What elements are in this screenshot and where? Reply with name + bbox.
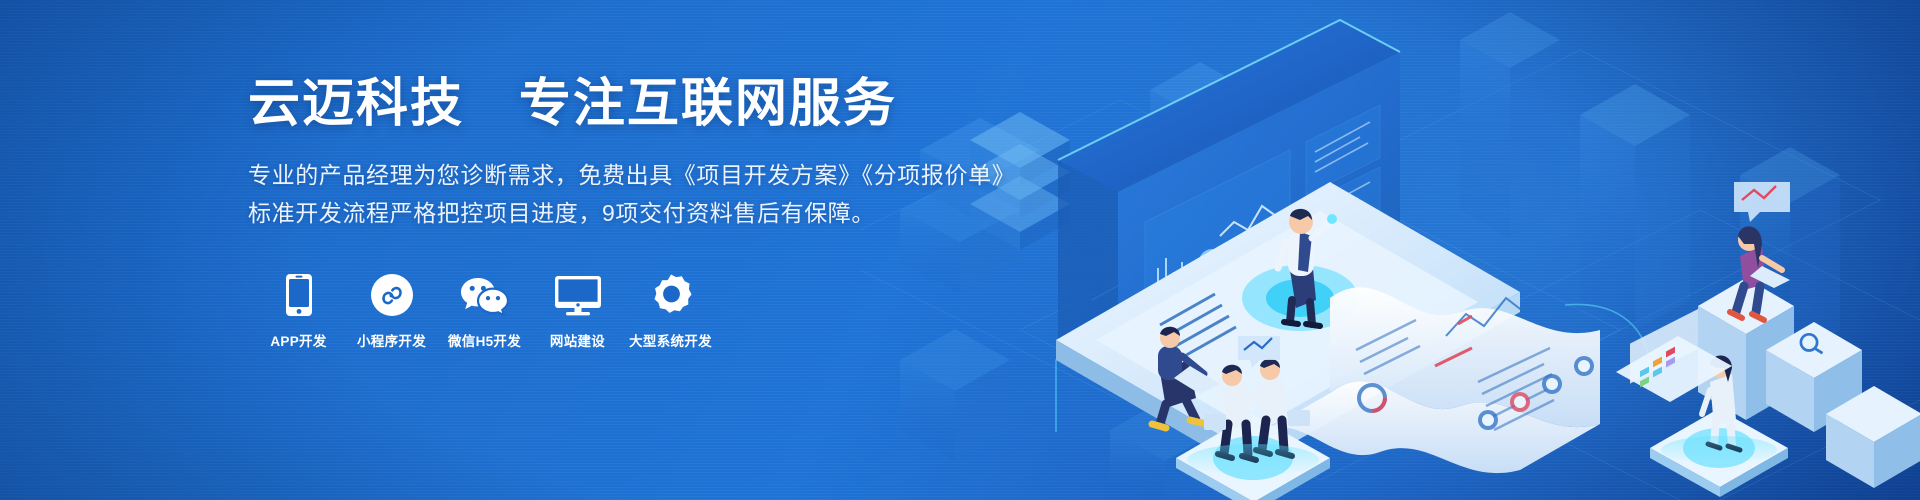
monitor-icon bbox=[555, 270, 601, 316]
bg-tower bbox=[1580, 84, 1690, 331]
headline-brand: 云迈科技 bbox=[248, 75, 464, 133]
service-list: APP开发 小程序开发 bbox=[252, 270, 1108, 350]
service-item-wechat-h5[interactable]: 微信H5开发 bbox=[438, 270, 531, 350]
wechat-icon bbox=[460, 270, 510, 316]
page-title: 云迈科技 专注互联网服务 bbox=[248, 74, 1108, 135]
service-label-large-system: 大型系统开发 bbox=[629, 330, 712, 350]
subtitle-line-1: 专业的产品经理为您诊断需求，免费出具《项目开发方案》《分项报价单》 bbox=[248, 157, 1108, 194]
service-item-large-system[interactable]: 大型系统开发 bbox=[624, 270, 717, 350]
subtitle-block: 专业的产品经理为您诊断需求，免费出具《项目开发方案》《分项报价单》 标准开发流程… bbox=[248, 157, 1108, 232]
service-label-website: 网站建设 bbox=[550, 330, 605, 350]
promo-banner: 云迈科技 专注互联网服务 专业的产品经理为您诊断需求，免费出具《项目开发方案》《… bbox=[0, 0, 1920, 500]
mobile-phone-icon bbox=[286, 270, 312, 316]
service-label-wechat-h5: 微信H5开发 bbox=[448, 330, 521, 350]
service-item-mini-program[interactable]: 小程序开发 bbox=[345, 270, 438, 350]
service-label-app: APP开发 bbox=[270, 330, 326, 350]
gear-icon bbox=[650, 270, 692, 316]
service-label-mini-program: 小程序开发 bbox=[357, 330, 426, 350]
service-item-app[interactable]: APP开发 bbox=[252, 270, 345, 350]
mini-program-icon bbox=[371, 270, 413, 316]
banner-content: 云迈科技 专注互联网服务 专业的产品经理为您诊断需求，免费出具《项目开发方案》《… bbox=[248, 74, 1108, 350]
bg-tower bbox=[1460, 12, 1560, 238]
subtitle-line-2: 标准开发流程严格把控项目进度，9项交付资料售后有保障。 bbox=[248, 195, 1108, 232]
service-item-website[interactable]: 网站建设 bbox=[531, 270, 624, 350]
headline-tagline: 专注互联网服务 bbox=[519, 75, 897, 133]
